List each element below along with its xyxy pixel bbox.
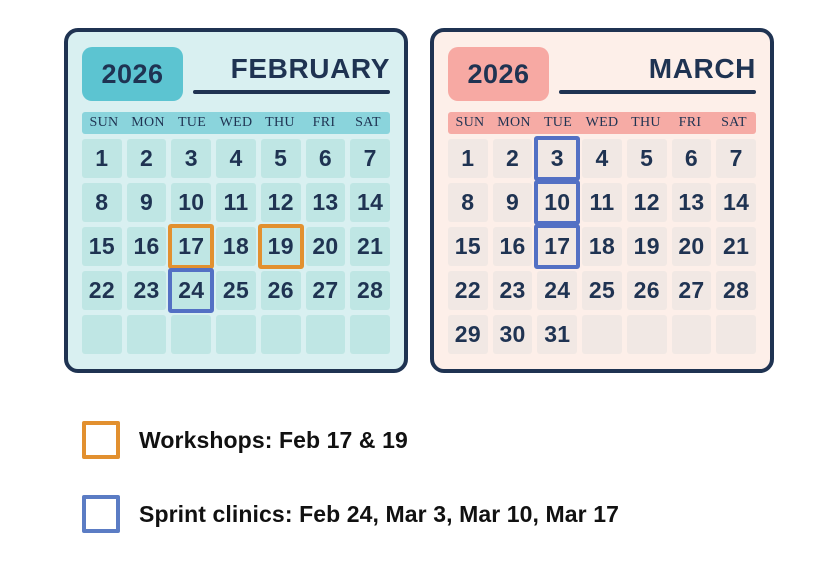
day-cell-february-26[interactable]: 26 (261, 271, 301, 310)
day-cell-february-16[interactable]: 16 (127, 227, 167, 266)
month-underline-march (559, 90, 756, 94)
weekday-label-wed: WED (580, 112, 624, 134)
day-cell-empty (171, 315, 211, 354)
day-cell-february-9[interactable]: 9 (127, 183, 167, 222)
day-cell-february-13[interactable]: 13 (306, 183, 346, 222)
year-badge-march: 2026 (448, 47, 549, 101)
day-cell-march-29[interactable]: 29 (448, 315, 488, 354)
day-cell-march-18[interactable]: 18 (582, 227, 622, 266)
day-cell-empty (261, 315, 301, 354)
day-cell-empty (127, 315, 167, 354)
day-cell-february-2[interactable]: 2 (127, 139, 167, 178)
day-cell-march-22[interactable]: 22 (448, 271, 488, 310)
weekday-header-march: SUNMONTUEWEDTHUFRISAT (448, 112, 756, 134)
calendar-card-february: 2026FEBRUARYSUNMONTUEWEDTHUFRISAT1234567… (64, 28, 408, 373)
calendar-header-march: 2026MARCH (448, 45, 756, 103)
day-cell-february-24[interactable]: 24 (171, 271, 211, 310)
day-cell-march-7[interactable]: 7 (716, 139, 756, 178)
weekday-label-fri: FRI (302, 112, 346, 134)
weekday-label-tue: TUE (536, 112, 580, 134)
day-cell-february-27[interactable]: 27 (306, 271, 346, 310)
day-cell-march-3[interactable]: 3 (537, 139, 577, 178)
day-cell-march-24[interactable]: 24 (537, 271, 577, 310)
legend-item-sprint: Sprint clinics: Feb 24, Mar 3, Mar 10, M… (82, 486, 762, 542)
day-cell-february-3[interactable]: 3 (171, 139, 211, 178)
weekday-label-sun: SUN (82, 112, 126, 134)
day-cell-empty (82, 315, 122, 354)
day-grid-march: 1234567891011121314151617181920212223242… (448, 139, 756, 354)
day-cell-empty (306, 315, 346, 354)
day-cell-march-20[interactable]: 20 (672, 227, 712, 266)
weekday-label-sun: SUN (448, 112, 492, 134)
weekday-label-mon: MON (492, 112, 536, 134)
day-cell-march-10[interactable]: 10 (537, 183, 577, 222)
day-cell-march-5[interactable]: 5 (627, 139, 667, 178)
day-cell-february-25[interactable]: 25 (216, 271, 256, 310)
weekday-label-wed: WED (214, 112, 258, 134)
day-cell-march-9[interactable]: 9 (493, 183, 533, 222)
day-cell-february-17[interactable]: 17 (171, 227, 211, 266)
legend-swatch-workshop-icon (82, 421, 120, 459)
weekday-label-sat: SAT (346, 112, 390, 134)
day-cell-empty (582, 315, 622, 354)
day-cell-march-28[interactable]: 28 (716, 271, 756, 310)
day-cell-february-12[interactable]: 12 (261, 183, 301, 222)
weekday-header-february: SUNMONTUEWEDTHUFRISAT (82, 112, 390, 134)
legend-item-workshop: Workshops: Feb 17 & 19 (82, 412, 762, 468)
legend-label-sprint: Sprint clinics: Feb 24, Mar 3, Mar 10, M… (139, 501, 619, 528)
day-cell-march-4[interactable]: 4 (582, 139, 622, 178)
day-cell-february-14[interactable]: 14 (350, 183, 390, 222)
day-cell-march-12[interactable]: 12 (627, 183, 667, 222)
day-cell-february-10[interactable]: 10 (171, 183, 211, 222)
day-cell-february-21[interactable]: 21 (350, 227, 390, 266)
day-grid-february: 1234567891011121314151617181920212223242… (82, 139, 390, 354)
day-cell-february-19[interactable]: 19 (261, 227, 301, 266)
day-cell-march-11[interactable]: 11 (582, 183, 622, 222)
month-name-february: FEBRUARY (231, 55, 390, 90)
day-cell-march-17[interactable]: 17 (537, 227, 577, 266)
day-cell-february-1[interactable]: 1 (82, 139, 122, 178)
day-cell-march-25[interactable]: 25 (582, 271, 622, 310)
day-cell-march-2[interactable]: 2 (493, 139, 533, 178)
weekday-label-thu: THU (258, 112, 302, 134)
legend-swatch-sprint-icon (82, 495, 120, 533)
day-cell-march-6[interactable]: 6 (672, 139, 712, 178)
month-underline-february (193, 90, 390, 94)
weekday-label-thu: THU (624, 112, 668, 134)
day-cell-march-27[interactable]: 27 (672, 271, 712, 310)
day-cell-empty (672, 315, 712, 354)
day-cell-march-26[interactable]: 26 (627, 271, 667, 310)
day-cell-february-28[interactable]: 28 (350, 271, 390, 310)
day-cell-empty (716, 315, 756, 354)
day-cell-empty (350, 315, 390, 354)
month-title-wrap-march: MARCH (549, 47, 756, 101)
day-cell-february-20[interactable]: 20 (306, 227, 346, 266)
day-cell-february-18[interactable]: 18 (216, 227, 256, 266)
weekday-label-fri: FRI (668, 112, 712, 134)
day-cell-march-21[interactable]: 21 (716, 227, 756, 266)
day-cell-march-23[interactable]: 23 (493, 271, 533, 310)
day-cell-february-5[interactable]: 5 (261, 139, 301, 178)
legend: Workshops: Feb 17 & 19Sprint clinics: Fe… (82, 412, 762, 542)
legend-label-workshop: Workshops: Feb 17 & 19 (139, 427, 408, 454)
day-cell-february-6[interactable]: 6 (306, 139, 346, 178)
weekday-label-sat: SAT (712, 112, 756, 134)
day-cell-february-7[interactable]: 7 (350, 139, 390, 178)
weekday-label-tue: TUE (170, 112, 214, 134)
day-cell-february-4[interactable]: 4 (216, 139, 256, 178)
day-cell-february-23[interactable]: 23 (127, 271, 167, 310)
day-cell-march-14[interactable]: 14 (716, 183, 756, 222)
day-cell-march-19[interactable]: 19 (627, 227, 667, 266)
day-cell-february-22[interactable]: 22 (82, 271, 122, 310)
day-cell-empty (627, 315, 667, 354)
calendar-header-february: 2026FEBRUARY (82, 45, 390, 103)
day-cell-march-31[interactable]: 31 (537, 315, 577, 354)
day-cell-march-15[interactable]: 15 (448, 227, 488, 266)
day-cell-february-8[interactable]: 8 (82, 183, 122, 222)
day-cell-march-8[interactable]: 8 (448, 183, 488, 222)
month-title-wrap-february: FEBRUARY (183, 47, 390, 101)
day-cell-march-1[interactable]: 1 (448, 139, 488, 178)
calendar-card-march: 2026MARCHSUNMONTUEWEDTHUFRISAT1234567891… (430, 28, 774, 373)
month-name-march: MARCH (649, 55, 756, 90)
year-badge-february: 2026 (82, 47, 183, 101)
day-cell-march-30[interactable]: 30 (493, 315, 533, 354)
day-cell-february-15[interactable]: 15 (82, 227, 122, 266)
day-cell-empty (216, 315, 256, 354)
day-cell-march-13[interactable]: 13 (672, 183, 712, 222)
day-cell-february-11[interactable]: 11 (216, 183, 256, 222)
calendars-container: 2026FEBRUARYSUNMONTUEWEDTHUFRISAT1234567… (0, 0, 832, 390)
weekday-label-mon: MON (126, 112, 170, 134)
day-cell-march-16[interactable]: 16 (493, 227, 533, 266)
